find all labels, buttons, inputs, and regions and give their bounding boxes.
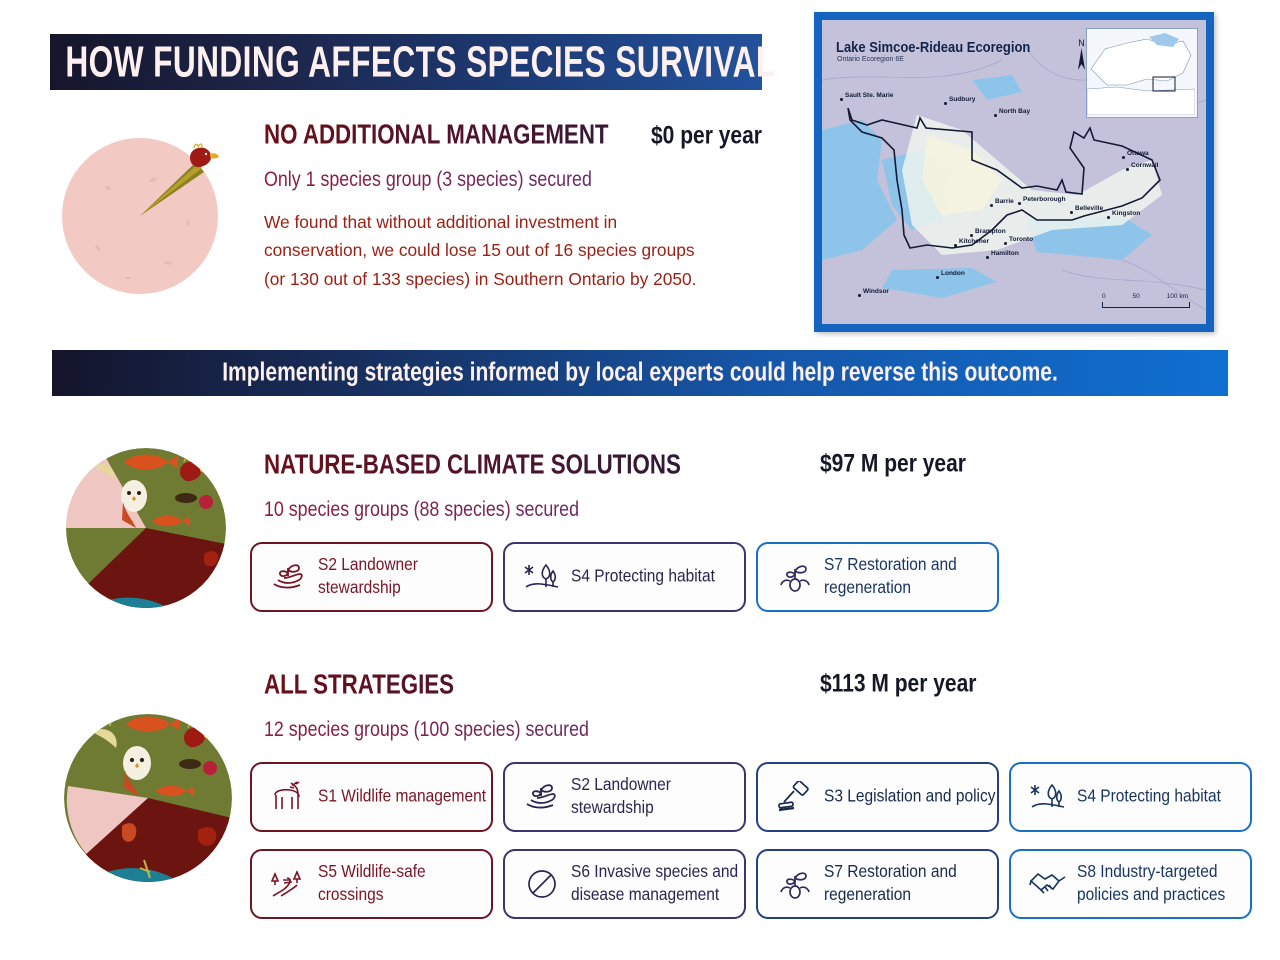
section-subtitle: Only 1 species group (3 species) secured <box>264 167 799 192</box>
map-city-dot <box>840 98 843 101</box>
strategy-label: S6 Invasive species and disease manageme… <box>565 861 744 906</box>
map-city-label: Barrie <box>995 198 1014 205</box>
map-city-dot <box>944 102 947 105</box>
map-city-dot <box>986 256 989 259</box>
species-pie-illustration-2 <box>58 436 236 620</box>
map-city-dot <box>1107 216 1110 219</box>
map-city-label: Peterborough <box>1023 196 1066 203</box>
tree-snowflake-icon <box>519 555 565 599</box>
seedling-icon <box>772 862 818 906</box>
strategy-card-s4-all[interactable]: S4 Protecting habitat <box>1009 762 1252 832</box>
map-city-label: Sudbury <box>949 96 975 103</box>
map-city-label: Toronto <box>1009 236 1033 243</box>
map-scale-label: 0 <box>1102 293 1106 300</box>
statement-banner: Implementing strategies informed by loca… <box>52 350 1228 396</box>
section-heading: ALL STRATEGIES <box>264 668 846 701</box>
strategy-label: S7 Restoration and regeneration <box>818 554 997 599</box>
section-subtitle: 10 species groups (88 species) secured <box>264 497 858 522</box>
section-subtitle: 12 species groups (100 species) secured <box>264 717 858 742</box>
map-city-label: North Bay <box>999 108 1030 115</box>
map-city-label: Cornwall <box>1131 162 1158 169</box>
map-city-dot <box>954 244 957 247</box>
strategy-card-s8[interactable]: S8 Industry-targeted policies and practi… <box>1009 849 1252 919</box>
map-inset-canada <box>1086 28 1198 118</box>
hand-sprout-icon <box>266 555 312 599</box>
handshake-icon <box>1025 862 1071 906</box>
map-city-dot <box>936 276 939 279</box>
species-circle-no-management <box>58 128 228 305</box>
map-city-dot <box>1126 168 1129 171</box>
strategy-card-s2-all[interactable]: S2 Landowner stewardship <box>503 762 746 832</box>
map-city-dot <box>990 204 993 207</box>
page-title-banner: HOW FUNDING AFFECTS SPECIES SURVIVAL <box>50 34 762 90</box>
species-circle-nbcs <box>58 436 236 625</box>
prohibition-icon <box>519 862 565 906</box>
map-city-dot <box>858 294 861 297</box>
species-circle-all-strategies <box>58 700 240 901</box>
strategy-label: S2 Landowner stewardship <box>565 774 744 819</box>
strategy-card-s7[interactable]: S7 Restoration and regeneration <box>756 542 999 612</box>
map-city-label: Windsor <box>863 288 889 295</box>
map-city-dot <box>994 114 997 117</box>
seedling-icon <box>772 555 818 599</box>
tree-snowflake-icon <box>1025 775 1071 819</box>
strategy-card-s6[interactable]: S6 Invasive species and disease manageme… <box>503 849 746 919</box>
strategy-label: S2 Landowner stewardship <box>312 554 491 599</box>
strategy-label: S1 Wildlife management <box>312 786 486 809</box>
species-pie-illustration-3 <box>58 700 240 896</box>
map-city-dot <box>1018 202 1021 205</box>
strategy-card-s2[interactable]: S2 Landowner stewardship <box>250 542 493 612</box>
strategy-label: S3 Legislation and policy <box>818 786 995 809</box>
map-canvas: Lake Simcoe-Rideau Ecoregion Ontario Eco… <box>822 20 1206 324</box>
section-heading: NATURE-BASED CLIMATE SOLUTIONS <box>264 448 846 481</box>
strategy-label: S7 Restoration and regeneration <box>818 861 997 906</box>
map-city-label: Brampton <box>975 228 1006 235</box>
strategy-label: S8 Industry-targeted policies and practi… <box>1071 861 1250 906</box>
section-cost-all-strategies: $113 M per year <box>820 670 976 699</box>
strategy-card-s4[interactable]: S4 Protecting habitat <box>503 542 746 612</box>
map-city-label: Kingston <box>1112 210 1140 217</box>
map-city-label: Hamilton <box>991 250 1019 257</box>
strategy-label: S5 Wildlife-safe crossings <box>312 861 491 906</box>
map-city-label: Ottawa <box>1127 150 1149 157</box>
hand-sprout-icon <box>519 775 565 819</box>
map-city-dot <box>970 234 973 237</box>
road-crossing-icon <box>266 862 312 906</box>
section-cost-no-management: $0 per year <box>651 122 762 151</box>
map-title: Lake Simcoe-Rideau Ecoregion <box>836 38 1030 55</box>
map-city-dot <box>1070 211 1073 214</box>
section-all-strategies: ALL STRATEGIES 12 species groups (100 sp… <box>264 668 864 738</box>
gavel-icon <box>772 775 818 819</box>
north-arrow-icon: N <box>1077 38 1086 70</box>
strategy-card-s7-all[interactable]: S7 Restoration and regeneration <box>756 849 999 919</box>
map-scale-label: 50 <box>1133 293 1140 300</box>
strategy-label: S4 Protecting habitat <box>565 566 715 589</box>
strategy-card-s1[interactable]: S1 Wildlife management <box>250 762 493 832</box>
section-cost-nbcs: $97 M per year <box>820 450 966 479</box>
map-city-label: London <box>941 270 965 277</box>
strategy-card-s3[interactable]: S3 Legislation and policy <box>756 762 999 832</box>
map-city-label: Sault Ste. Marie <box>845 92 893 99</box>
section-nature-based-climate-solutions: NATURE-BASED CLIMATE SOLUTIONS 10 specie… <box>264 448 864 518</box>
map-city-dot <box>1004 242 1007 245</box>
map-city-dot <box>1122 156 1125 159</box>
map-city-label: Belleville <box>1075 205 1103 212</box>
species-pie-illustration-1 <box>58 128 228 300</box>
statement-text: Implementing strategies informed by loca… <box>222 358 1058 387</box>
page-title: HOW FUNDING AFFECTS SPECIES SURVIVAL <box>50 37 776 87</box>
map-city-label: Kitchener <box>959 238 989 245</box>
map-scale-label: 100 km <box>1167 293 1188 300</box>
north-label: N <box>1078 38 1085 48</box>
section-body-text: We found that without additional investm… <box>264 208 714 293</box>
map-subtitle: Ontario Ecoregion 6E <box>837 56 904 63</box>
deer-icon <box>266 775 312 819</box>
strategy-label: S4 Protecting habitat <box>1071 786 1221 809</box>
ecoregion-map: Lake Simcoe-Rideau Ecoregion Ontario Eco… <box>814 12 1214 332</box>
strategy-card-s5[interactable]: S5 Wildlife-safe crossings <box>250 849 493 919</box>
map-scale-bar: 050100 km <box>1102 293 1190 308</box>
